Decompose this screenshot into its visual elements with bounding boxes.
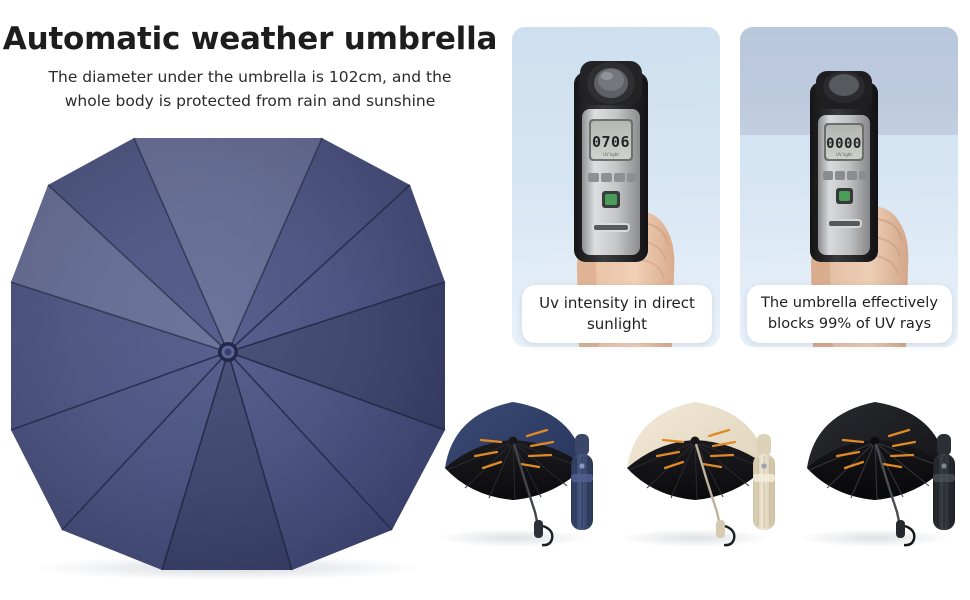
uv-meter-brand: UV light: [603, 152, 619, 157]
power-button: [605, 194, 617, 205]
uv-meter-device: 0000 UV light: [810, 71, 878, 262]
open-umbrella: [807, 402, 947, 545]
variant-beige: [617, 370, 802, 585]
uv-meter-reading: 0000: [826, 136, 862, 152]
handle: [534, 520, 543, 538]
power-button: [839, 191, 850, 201]
variant-navy: [435, 370, 620, 585]
header-block: Automatic weather umbrella The diameter …: [0, 22, 500, 113]
caption-text: Uv intensity in direct sunlight: [522, 293, 712, 336]
page-subtitle: The diameter under the umbrella is 102cm…: [0, 65, 500, 113]
variant-shadow: [437, 529, 589, 547]
handle: [716, 520, 725, 538]
hero-umbrella-image: [2, 130, 454, 580]
uv-meter-brand: UV light: [836, 152, 852, 157]
open-umbrella: [627, 402, 767, 545]
variant-shadow: [619, 529, 771, 547]
umbrella-center-hub: [218, 342, 238, 362]
uv-meter-device: 0706 UV light: [574, 61, 648, 262]
uv-meter-reading: 0706: [592, 133, 630, 151]
variant-shadow: [799, 529, 951, 547]
caption-text: The umbrella effectively blocks 99% of U…: [747, 293, 952, 334]
caption-card-under-umbrella: The umbrella effectively blocks 99% of U…: [747, 285, 952, 343]
open-umbrella: [445, 402, 585, 545]
caption-card-direct-sunlight: Uv intensity in direct sunlight: [522, 285, 712, 343]
variant-black: [797, 370, 970, 585]
page-title: Automatic weather umbrella: [0, 22, 500, 56]
handle: [896, 520, 905, 538]
